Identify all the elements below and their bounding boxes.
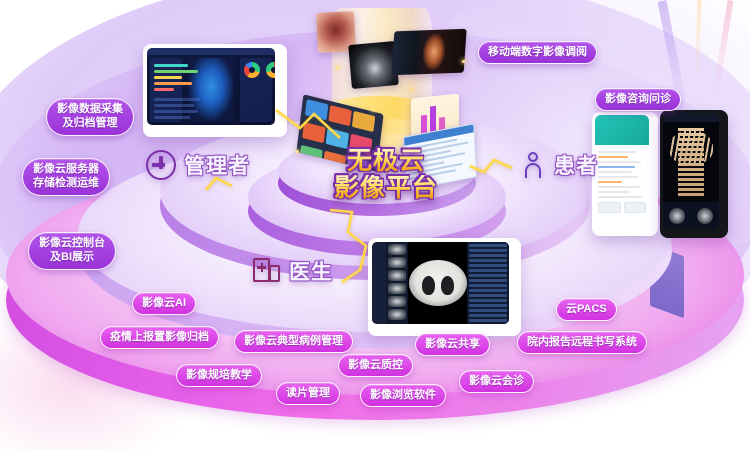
pill-patient-1[interactable]: 移动端数字影像调阅 — [478, 41, 597, 64]
role-admin[interactable]: 管理者 — [146, 150, 250, 180]
pill-doctor-7[interactable]: 影像云共享 — [415, 333, 490, 356]
sparkle-icon — [336, 66, 339, 69]
pill-patient-2[interactable]: 影像咨询问诊 — [595, 88, 681, 111]
pill-admin-2[interactable]: 影像云服务器 存储检测运维 — [22, 158, 110, 196]
patient-3d-viewer-phone — [660, 110, 728, 238]
bi-dashboard-screen — [143, 44, 287, 137]
pill-doctor-8[interactable]: 影像浏览软件 — [360, 384, 446, 407]
role-patient-label: 患者 — [554, 150, 598, 180]
document-plus-icon — [253, 258, 281, 284]
sparkle-icon — [372, 108, 375, 111]
pill-doctor-9[interactable]: 影像云会诊 — [459, 370, 534, 393]
platform-title-line1: 无极云 — [320, 148, 452, 175]
pill-doctor-11[interactable]: 院内报告远程书写系统 — [517, 331, 647, 354]
role-admin-label: 管理者 — [184, 150, 250, 180]
sparkle-icon — [462, 60, 465, 63]
infographic-canvas: 管理者 患者 医生 无极云 影像平台 影像数据采集 及归档管理 影像云服务器 存… — [0, 0, 750, 450]
pill-doctor-6[interactable]: 影像云质控 — [338, 354, 413, 377]
role-doctor[interactable]: 医生 — [253, 256, 333, 286]
pill-admin-1[interactable]: 影像数据采集 及归档管理 — [46, 98, 134, 136]
role-patient[interactable]: 患者 — [520, 150, 598, 180]
sparkle-icon — [296, 150, 299, 153]
role-doctor-label: 医生 — [289, 256, 333, 286]
patient-app-phone — [592, 112, 658, 236]
pill-doctor-5[interactable]: 读片管理 — [276, 382, 340, 405]
pill-doctor-4[interactable]: 影像规培教学 — [176, 364, 262, 387]
sparkle-icon — [410, 88, 413, 91]
pill-doctor-2[interactable]: 疫情上报置影像归档 — [100, 326, 219, 349]
pill-doctor-3[interactable]: 影像云典型病例管理 — [234, 330, 353, 353]
circle-plus-icon — [146, 150, 176, 180]
pill-doctor-1[interactable]: 影像云AI — [132, 292, 196, 315]
pill-admin-3[interactable]: 影像云控制台 及BI展示 — [28, 232, 116, 270]
platform-title: 无极云 影像平台 — [320, 148, 452, 201]
angiography-image-panel — [391, 29, 466, 75]
pill-doctor-10[interactable]: 云PACS — [556, 298, 617, 321]
platform-title-line2: 影像平台 — [320, 175, 452, 202]
pacs-viewer-screen — [368, 238, 521, 336]
person-icon — [520, 152, 546, 178]
